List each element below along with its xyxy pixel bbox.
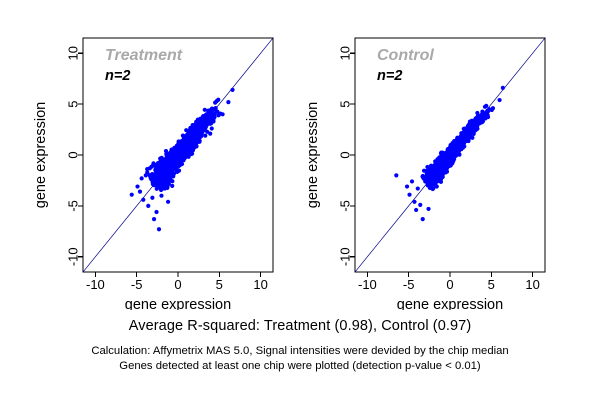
x-tick-label: -5 bbox=[403, 277, 415, 292]
x-tick-label: 0 bbox=[174, 277, 181, 292]
y-tick-label: 5 bbox=[338, 101, 353, 108]
panel-sample-size: n=2 bbox=[377, 68, 402, 84]
x-axis-label: gene expression bbox=[125, 297, 231, 310]
y-tick-label: 0 bbox=[66, 151, 81, 158]
y-tick-label: 5 bbox=[66, 101, 81, 108]
x-tick-label: -10 bbox=[358, 277, 377, 292]
x-tick-label: 5 bbox=[488, 277, 495, 292]
scatter-plot-control: -10-50510-10-50510gene expressiongene ex… bbox=[272, 0, 572, 310]
x-axis-label: gene expression bbox=[397, 297, 503, 310]
y-tick-label: -10 bbox=[66, 247, 81, 266]
figure-root: -10-50510-10-50510gene expressiongene ex… bbox=[0, 0, 600, 400]
panel-title: Control bbox=[377, 47, 434, 64]
x-tick-label: 0 bbox=[446, 277, 453, 292]
panel-sample-size: n=2 bbox=[105, 68, 130, 84]
x-tick-label: -5 bbox=[131, 277, 143, 292]
x-tick-label: -10 bbox=[86, 277, 105, 292]
x-tick-label: 10 bbox=[253, 277, 267, 292]
caption-method-line-1: Calculation: Affymetrix MAS 5.0, Signal … bbox=[0, 344, 600, 359]
y-tick-label: 0 bbox=[338, 151, 353, 158]
panel-title: Treatment bbox=[105, 47, 183, 64]
caption-block: Average R-squared: Treatment (0.98), Con… bbox=[0, 316, 600, 374]
y-tick-label: 10 bbox=[66, 46, 81, 60]
x-tick-label: 5 bbox=[216, 277, 223, 292]
y-tick-label: -10 bbox=[338, 247, 353, 266]
caption-r-squared: Average R-squared: Treatment (0.98), Con… bbox=[0, 316, 600, 336]
panel-treatment: -10-50510-10-50510gene expressiongene ex… bbox=[0, 0, 300, 310]
y-tick-label: -5 bbox=[66, 200, 81, 212]
y-axis-label: gene expression bbox=[305, 102, 321, 208]
x-tick-label: 10 bbox=[525, 277, 539, 292]
scatter-plot-treatment: -10-50510-10-50510gene expressiongene ex… bbox=[0, 0, 300, 310]
y-tick-label: 10 bbox=[338, 46, 353, 60]
panel-control: -10-50510-10-50510gene expressiongene ex… bbox=[272, 0, 572, 310]
caption-method-line-2: Genes detected at least one chip were pl… bbox=[0, 359, 600, 374]
y-axis-label: gene expression bbox=[33, 102, 49, 208]
y-tick-label: -5 bbox=[338, 200, 353, 212]
